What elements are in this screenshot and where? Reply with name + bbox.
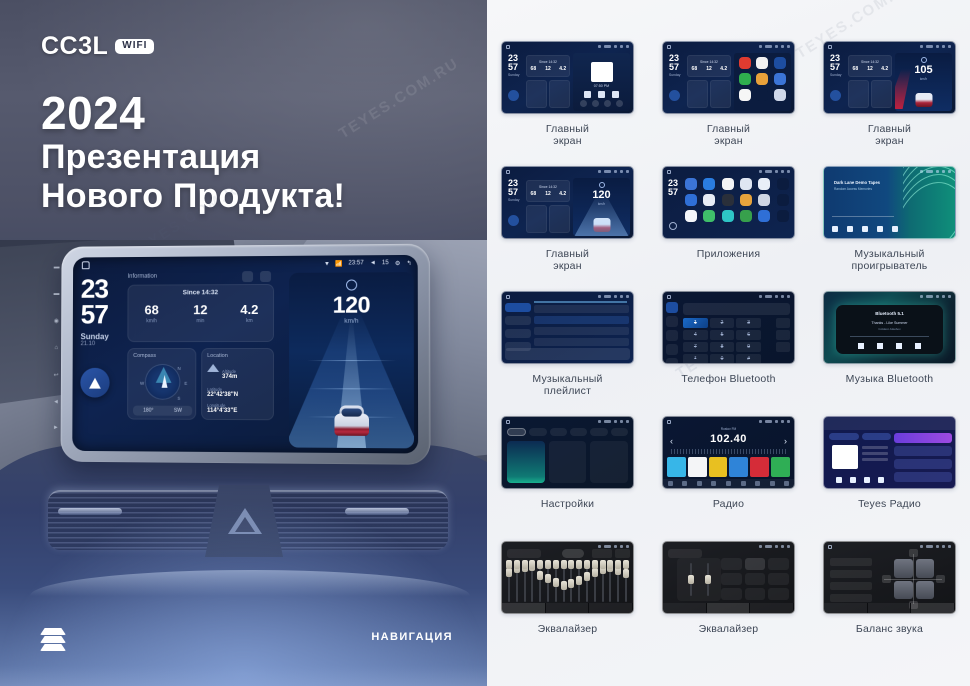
app-icon-maps[interactable] xyxy=(703,210,715,222)
stat-speed: 68 km/h xyxy=(127,302,176,324)
gear-icon[interactable]: ⚙ xyxy=(395,260,401,267)
eq-band-sliders[interactable] xyxy=(508,560,627,602)
eq-preset-badge[interactable] xyxy=(507,549,541,558)
head-unit-side-buttons[interactable]: ▬ ▬ ◉ ⌂ ↩ ◄ ► xyxy=(50,255,63,442)
mini-nav-fab[interactable] xyxy=(669,90,680,101)
favorite-icon xyxy=(878,477,884,483)
contacts-icon xyxy=(666,316,678,327)
compass-north: N xyxy=(177,366,180,371)
mini-nav-fab[interactable] xyxy=(508,90,519,101)
gallery-item[interactable]: Dark Lane Demo Tapes Random Access Memor… xyxy=(809,166,970,291)
thumbnail-caption: Баланс звука xyxy=(856,623,923,635)
presentation-page: CC3L WIFI 2024 Презентация Нового Продук… xyxy=(0,0,970,686)
app-icon-browser[interactable] xyxy=(756,57,768,69)
gallery-item[interactable]: 2357 xyxy=(648,166,809,291)
app-icon-youtube[interactable] xyxy=(739,57,751,69)
stop-icon xyxy=(850,477,856,483)
gallery-item[interactable]: 123456789*0# Телефон Bluetooth xyxy=(648,291,809,416)
mini-compass-card xyxy=(687,80,708,108)
app-grid[interactable] xyxy=(685,178,791,222)
album-art xyxy=(591,62,613,82)
compass-east: E xyxy=(184,381,187,386)
compass-heading: 180° xyxy=(143,408,153,414)
headline-year: 2024 xyxy=(41,89,345,138)
progress-bar[interactable] xyxy=(832,216,894,218)
app-icon-mail[interactable] xyxy=(774,73,786,85)
mini-since: Since 14:32 xyxy=(687,60,731,64)
mini-clock: 2357Sunday xyxy=(508,54,520,77)
search-icon xyxy=(666,330,678,341)
headline-line-2: Нового Продукта! xyxy=(41,177,345,216)
tab-balance xyxy=(589,603,633,613)
stat-time: 12 min xyxy=(176,302,225,324)
repeat-icon xyxy=(892,226,898,232)
car-body xyxy=(334,413,369,435)
mini-nav-fab[interactable] xyxy=(508,215,519,226)
speed-icon xyxy=(346,279,357,290)
tab-sound xyxy=(529,428,546,436)
thumbnail-caption: Радио xyxy=(713,498,744,510)
backspace-icon xyxy=(776,330,790,340)
altitude-value: 374m xyxy=(222,374,273,380)
preset-2 xyxy=(688,457,707,477)
gallery-item[interactable]: Bluetooth 5.1 Thanks - Like Summer Colde… xyxy=(809,291,970,416)
thumbnail-caption: Эквалайзер xyxy=(538,623,598,635)
tab-eq xyxy=(663,603,707,613)
mini-status-bar xyxy=(824,542,955,550)
station-meta xyxy=(862,446,888,464)
mini-app-shortcuts[interactable] xyxy=(734,53,791,111)
expand-icon[interactable] xyxy=(260,271,271,282)
preset-3 xyxy=(709,457,728,477)
mini-clock: 2357 xyxy=(668,179,678,196)
left-hero-panel: CC3L WIFI 2024 Презентация Нового Продук… xyxy=(0,0,487,686)
tab-eq xyxy=(824,603,868,613)
dialpad-icon xyxy=(666,302,678,313)
thumbnail-equalizer[interactable] xyxy=(501,541,634,614)
app-icon-gallery[interactable] xyxy=(756,73,768,85)
logo-text: CC3L xyxy=(41,32,108,61)
sound-effect-presets[interactable] xyxy=(721,558,789,600)
thumbnail-sound-balance[interactable] xyxy=(823,541,956,614)
headline-line-1: Презентация xyxy=(41,138,345,177)
mini-media-pane[interactable]: 07:50 PM xyxy=(573,53,630,111)
app-icon-musicplayer[interactable] xyxy=(722,210,734,222)
media-controls[interactable] xyxy=(832,477,888,483)
thumbnail-radio[interactable]: Rostov FM ‹ 102.40 › xyxy=(662,416,795,489)
clock-minutes: 57 xyxy=(81,302,109,327)
car-3d-model xyxy=(915,93,932,107)
station-list[interactable] xyxy=(894,433,952,485)
compass-title: Compass xyxy=(133,353,195,359)
location-title: Location xyxy=(207,353,273,359)
frequency-scale[interactable] xyxy=(671,449,786,454)
gallery-item[interactable]: Баланс звука xyxy=(809,541,970,661)
drive-view-pane[interactable]: 120 km/h xyxy=(290,272,415,448)
footer-label: НАВИГАЦИЯ xyxy=(371,631,453,643)
home-icon[interactable] xyxy=(82,261,90,269)
tab-balance xyxy=(911,603,955,613)
app-icon-calculator[interactable] xyxy=(740,178,752,190)
seat-diagram xyxy=(894,559,934,599)
thumbnail-grid: 2357Sunday Since 14:32 68124.2 07:50 PM xyxy=(487,41,970,661)
app-icon-gallery[interactable] xyxy=(758,194,770,206)
mini-compass-card xyxy=(848,80,869,108)
gallery-item[interactable]: Музыкальныйплейлист xyxy=(487,291,648,416)
app-icon-camera[interactable] xyxy=(758,178,770,190)
prev-icon xyxy=(847,226,853,232)
thumbnail-caption: Главныйэкран xyxy=(868,123,911,148)
tab-system xyxy=(590,428,607,436)
app-icon-navi[interactable] xyxy=(774,57,786,69)
eq-bottom-tabs[interactable] xyxy=(502,603,633,613)
location-longitude: Longitude 114°4'33"E xyxy=(207,403,273,414)
refresh-icon[interactable] xyxy=(242,271,253,282)
stat-distance-value: 4.2 xyxy=(225,302,274,317)
preset-1 xyxy=(667,457,686,477)
play-pause-icon xyxy=(862,226,868,232)
eq-bottom-tabs[interactable] xyxy=(824,603,955,613)
call-log-icon xyxy=(666,344,678,355)
thumbnail-home-media[interactable]: 2357Sunday Since 14:32 68124.2 07:50 PM xyxy=(501,41,634,114)
preset-4 xyxy=(729,457,748,477)
head-unit-left-pane: 23 57 Sunday 21.10 Information Since 14:… xyxy=(72,256,289,453)
page-title: 2024 Презентация Нового Продукта! xyxy=(41,89,345,215)
tab-fader xyxy=(868,603,912,613)
thumbnail-caption: Главныйэкран xyxy=(546,248,589,273)
phone-action-column[interactable] xyxy=(776,318,790,354)
app-icon-radio[interactable] xyxy=(758,210,770,222)
app-icon-chrome[interactable] xyxy=(685,194,697,206)
wifi-glyph: 📶 xyxy=(335,260,343,267)
number-input[interactable] xyxy=(683,303,790,315)
mountain-icon xyxy=(207,364,219,372)
mini-drive-pane[interactable]: 120 km/h xyxy=(573,178,630,236)
volume-value: 15 xyxy=(382,260,389,266)
progress-bar[interactable] xyxy=(850,336,929,337)
station-presets[interactable] xyxy=(667,457,790,477)
tab-about xyxy=(611,428,628,436)
clock-day: Sunday xyxy=(81,333,109,342)
gallery-item[interactable]: 2357Sunday Since 14:32 68124.2 105 km/h xyxy=(809,41,970,166)
app-icon-sim[interactable] xyxy=(685,178,697,190)
screenshot-gallery-panel: TEYES.COM.RU TEYES.COM.RU 2357Sunday Sin… xyxy=(487,0,970,686)
location-latitude: Latitude 22°42'38"N xyxy=(207,387,273,398)
side-button-prev[interactable]: ▬ xyxy=(54,265,60,271)
stat-time-value: 12 xyxy=(176,302,225,317)
mini-compass-card xyxy=(526,80,547,108)
wifi-icon xyxy=(507,441,545,483)
thumbnail-music-player[interactable]: Dark Lane Demo Tapes Random Access Memor… xyxy=(823,166,956,239)
prev-icon xyxy=(836,477,842,483)
mini-status-bar xyxy=(824,292,955,300)
app-icon-bluetooth[interactable] xyxy=(703,178,715,190)
playlist-tab-underline xyxy=(534,301,627,303)
playlist-rows[interactable] xyxy=(534,305,629,349)
head-unit-screen[interactable]: ▾ 📶 23:57 ◄ 15 ⚙ ↰ 23 57 Sunday 21. xyxy=(72,255,418,454)
thumbnail-caption: Настройки xyxy=(541,498,594,510)
mini-status-bar xyxy=(663,167,794,175)
mini-stats: 68124.2 xyxy=(848,66,892,72)
mini-stats: 68124.2 xyxy=(526,191,570,197)
settings-cards[interactable] xyxy=(507,441,628,483)
gallery-item[interactable]: 2357Sunday Since 14:32 68124.2 07:50 PM xyxy=(487,41,648,166)
next-station-icon[interactable]: › xyxy=(784,436,787,446)
eq-preset-badge[interactable] xyxy=(668,549,702,558)
mini-status-bar xyxy=(663,42,794,50)
tab-wlan xyxy=(507,428,526,436)
thumbnail-caption: Teyes Радио xyxy=(858,498,921,510)
car-3d-model xyxy=(331,401,372,436)
compass-card[interactable]: Compass N S W E 180° SW xyxy=(127,348,196,420)
thumbnail-caption: Приложения xyxy=(697,248,760,260)
eq-save-button[interactable] xyxy=(592,549,612,558)
volume-icon: ◄ xyxy=(370,260,376,266)
waveform-decoration xyxy=(903,167,955,238)
longitude-value: 114°4'33"E xyxy=(207,408,273,414)
tab-fader xyxy=(546,603,590,613)
eq-bottom-tabs[interactable] xyxy=(663,603,794,613)
app-icon-play[interactable] xyxy=(739,89,751,101)
radio-band: Rostov FM xyxy=(663,427,794,431)
next-icon xyxy=(877,226,883,232)
speed-unit: km/h xyxy=(895,77,952,81)
traffic-icon xyxy=(549,441,587,483)
back-icon[interactable] xyxy=(669,222,677,230)
watermark: TEYES.COM.RU xyxy=(336,55,462,143)
media-controls[interactable] xyxy=(836,343,943,349)
app-icon-blank[interactable] xyxy=(777,178,789,190)
app-icon-filemanager[interactable] xyxy=(740,194,752,206)
teyes-radio-header[interactable] xyxy=(824,417,955,430)
car-dashboard-illustration: ▬ ▬ ◉ ⌂ ↩ ◄ ► ▾ 📶 23:57 ◄ 15 xyxy=(0,240,487,686)
app-icon-allapps[interactable] xyxy=(774,89,786,101)
thumbnail-caption: Музыка Bluetooth xyxy=(846,373,934,385)
preset-5 xyxy=(750,457,769,477)
compass-west: W xyxy=(140,381,144,386)
play-pause-icon xyxy=(877,343,883,349)
vent-slit-right xyxy=(345,508,409,515)
app-icon-spotify[interactable] xyxy=(739,73,751,85)
mini-status-bar xyxy=(663,292,794,300)
next-icon xyxy=(915,343,921,349)
track-title: 07:50 PM xyxy=(573,84,630,88)
car-3d-model xyxy=(593,218,610,232)
teyes-radio-tabs[interactable] xyxy=(829,433,891,440)
mini-status-bar xyxy=(502,292,633,300)
speed-unit: km/h xyxy=(573,202,630,206)
stat-time-unit: min xyxy=(176,318,225,324)
eq-more-button[interactable] xyxy=(615,549,630,558)
fader-sliders[interactable] xyxy=(677,558,721,601)
preset-6 xyxy=(771,457,790,477)
prev-icon xyxy=(858,343,864,349)
track-artist: Coldest Jukebox xyxy=(836,327,943,331)
mini-status-bar xyxy=(502,167,633,175)
app-icon-equalizer[interactable] xyxy=(722,194,734,206)
mini-location-card xyxy=(710,80,731,108)
bluetooth-label: Bluetooth 5.1 xyxy=(836,311,943,316)
station-artwork xyxy=(832,445,858,469)
app-icon-empty[interactable] xyxy=(756,89,768,101)
app-icon-keyboard[interactable] xyxy=(722,178,734,190)
status-bar: ▾ 📶 23:57 ◄ 15 ⚙ ↰ xyxy=(325,259,411,268)
gallery-item[interactable]: Rostov FM ‹ 102.40 › xyxy=(648,416,809,541)
radio-toolbar[interactable] xyxy=(663,479,794,488)
call-icon xyxy=(776,342,790,352)
stat-speed-unit: km/h xyxy=(127,318,175,324)
compass-readout: 180° SW xyxy=(133,406,192,416)
bt-music-panel: Bluetooth 5.1 Thanks - Like Summer Colde… xyxy=(836,305,943,354)
side-button-home[interactable]: ⌂ xyxy=(54,345,58,351)
dial-keypad[interactable]: 123456789*0# xyxy=(683,318,761,364)
latitude-value: 22°42'38"N xyxy=(207,392,273,398)
wifi-icon: ▾ xyxy=(325,260,329,268)
media-extra-buttons[interactable] xyxy=(573,100,630,107)
mini-clock: 2357Sunday xyxy=(508,179,520,202)
mini-location-card xyxy=(871,80,892,108)
mini-status-bar xyxy=(502,417,633,425)
compass-direction: SW xyxy=(174,408,182,414)
layers-icon[interactable] xyxy=(40,628,66,650)
media-controls[interactable] xyxy=(573,91,630,98)
stat-speed-value: 68 xyxy=(127,302,176,317)
stat-distance: 4.2 km xyxy=(225,302,274,324)
back-icon[interactable]: ↰ xyxy=(406,259,411,266)
app-icon-kinopoisk[interactable] xyxy=(685,210,697,222)
thumbnail-bluetooth-phone[interactable]: 123456789*0# xyxy=(662,291,795,364)
app-icon-clock[interactable] xyxy=(703,194,715,206)
road-graphic xyxy=(290,315,415,449)
thumbnail-home-road-red[interactable]: 2357Sunday Since 14:32 68124.2 105 km/h xyxy=(823,41,956,114)
balance-right-button[interactable] xyxy=(936,575,945,583)
thumbnail-bluetooth-music[interactable]: Bluetooth 5.1 Thanks - Like Summer Colde… xyxy=(823,291,956,364)
head-unit-device[interactable]: ▬ ▬ ◉ ⌂ ↩ ◄ ► ▾ 📶 23:57 ◄ 15 xyxy=(61,244,431,465)
tab-fader xyxy=(707,603,751,613)
gallery-item[interactable]: Эквалайзер xyxy=(487,541,648,661)
mini-status-bar xyxy=(824,42,955,50)
mini-stats: 68124.2 xyxy=(526,66,570,72)
star-icon xyxy=(776,318,790,328)
track-title: Dark Lane Demo Tapes xyxy=(834,180,880,185)
vent-slit-left xyxy=(58,508,122,515)
dashboard-lower xyxy=(0,445,487,686)
mini-clock: 2357Sunday xyxy=(669,54,681,77)
speed-value: 105 xyxy=(895,64,952,76)
location-card[interactable]: Location Altitude 374m Latitude 22°42'38… xyxy=(201,348,274,420)
gallery-item[interactable]: Teyes Радио xyxy=(809,416,970,541)
compass-dial xyxy=(145,364,181,400)
thumbnail-teyes-radio[interactable] xyxy=(823,416,956,489)
thumbnail-caption: Музыкальныйпроигрыватель xyxy=(852,248,928,273)
car-rear-window xyxy=(341,408,361,416)
compass-needle xyxy=(162,375,168,388)
gallery-item[interactable]: 2357Sunday Since 14:32 68124.2 xyxy=(648,41,809,166)
thumbnail-caption: Телефон Bluetooth xyxy=(681,373,775,385)
product-logo: CC3L WIFI xyxy=(41,32,154,61)
thumbnail-apps[interactable]: 2357 xyxy=(662,166,795,239)
thumbnail-equalizer-fader[interactable] xyxy=(662,541,795,614)
information-stats: 68 km/h 12 min 4.2 km xyxy=(127,302,274,324)
side-button-next[interactable]: ▬ xyxy=(54,291,60,297)
gallery-item[interactable]: Настройки xyxy=(487,416,648,541)
mini-status-bar xyxy=(663,417,794,425)
thumbnail-playlist[interactable] xyxy=(501,291,634,364)
hazard-triangle-inner xyxy=(235,517,255,532)
mini-nav-fab[interactable] xyxy=(830,90,841,101)
mini-drive-pane[interactable]: 105 km/h xyxy=(895,53,952,111)
mini-since: Since 14:32 xyxy=(526,60,570,64)
shuffle-icon xyxy=(832,226,838,232)
gallery-item[interactable]: 2357Sunday Since 14:32 68124.2 120 km/h xyxy=(487,166,648,291)
clock-date: 21.10 xyxy=(81,341,109,347)
speed-icon xyxy=(921,57,927,63)
track-title: Thanks - Like Summer xyxy=(836,321,943,325)
stop-icon xyxy=(896,343,902,349)
thumbnail-caption: Музыкальныйплейлист xyxy=(532,373,602,398)
mini-since: Since 14:32 xyxy=(526,185,570,189)
status-time: 23:57 xyxy=(348,260,363,266)
side-button-power[interactable]: ◉ xyxy=(54,318,59,325)
side-button-vol-down[interactable]: ◄ xyxy=(53,399,59,405)
media-controls[interactable] xyxy=(832,226,898,232)
settings-tabs[interactable] xyxy=(507,428,628,436)
compass-south: S xyxy=(177,396,180,401)
side-button-vol-up[interactable]: ► xyxy=(53,426,59,432)
mini-location-card xyxy=(549,80,570,108)
mini-status-bar xyxy=(502,42,633,50)
mini-compass-card xyxy=(526,205,547,233)
mini-since: Since 14:32 xyxy=(848,60,892,64)
balance-up-button[interactable] xyxy=(909,549,918,557)
stat-distance-unit: km xyxy=(225,318,274,324)
clock-hours: 23 xyxy=(81,277,109,302)
phone-sidebar[interactable] xyxy=(666,302,680,364)
thumbnail-home-apps[interactable]: 2357Sunday Since 14:32 68124.2 xyxy=(662,41,795,114)
radio-frequency: 102.40 xyxy=(663,433,794,445)
tab-display xyxy=(550,428,567,436)
mini-clock: 2357Sunday xyxy=(830,54,842,77)
app-icon-playstore[interactable] xyxy=(740,210,752,222)
thumbnail-caption: Главныйэкран xyxy=(546,123,589,148)
balance-left-button[interactable] xyxy=(882,575,891,583)
balance-preset-list[interactable] xyxy=(830,558,872,606)
track-artist: Random Access Memories xyxy=(834,187,872,191)
road-line xyxy=(307,360,396,361)
now-playing-bar[interactable] xyxy=(505,348,630,360)
app-icon-blank2[interactable] xyxy=(777,194,789,206)
speed-icon xyxy=(599,182,605,188)
thumbnail-settings[interactable] xyxy=(501,416,634,489)
thumbnail-caption: Эквалайзер xyxy=(699,623,759,635)
thumbnail-home-road[interactable]: 2357Sunday Since 14:32 68124.2 120 km/h xyxy=(501,166,634,239)
gallery-item[interactable]: Эквалайзер xyxy=(648,541,809,661)
speed-value: 120 xyxy=(573,189,630,201)
app-icon-blank3[interactable] xyxy=(777,210,789,222)
road-line xyxy=(307,388,397,389)
next-icon xyxy=(864,477,870,483)
navigation-fab-button[interactable] xyxy=(80,368,109,398)
thumbnail-caption: Главныйэкран xyxy=(707,123,750,148)
side-button-back[interactable]: ↩ xyxy=(54,372,59,379)
location-altitude: Altitude 374m xyxy=(222,369,273,380)
information-since: Since 14:32 xyxy=(128,289,275,297)
tab-eq xyxy=(502,603,546,613)
eq-reset-button[interactable] xyxy=(562,549,584,558)
tab-apps xyxy=(570,428,587,436)
mini-location-card xyxy=(549,205,570,233)
wifi-badge: WIFI xyxy=(115,39,154,54)
